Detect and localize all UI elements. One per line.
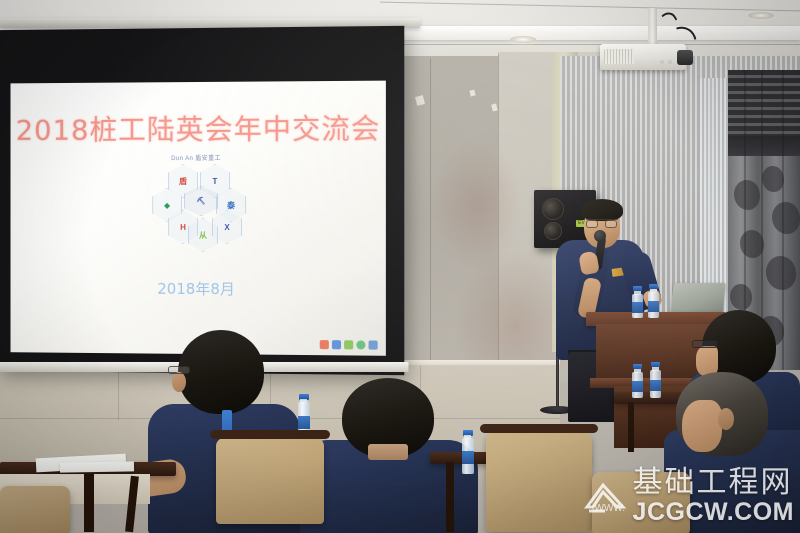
speaker-cone-upper — [542, 198, 564, 220]
audience-front-left-ear — [172, 372, 186, 392]
chair-front-center — [486, 432, 592, 532]
bottle-label — [632, 302, 643, 313]
audience-back-right-glasses — [692, 340, 718, 348]
audience-front-left-head — [178, 330, 264, 414]
projector-vent — [604, 49, 634, 64]
water-bottle — [632, 364, 643, 396]
water-bottle — [648, 284, 659, 318]
slide-title: 2018桩工陆英会年中交流会 — [11, 107, 386, 149]
sponsor-5 — [369, 340, 378, 349]
logo-cluster-label: Dun An 盾安重工 — [171, 153, 221, 162]
curtain-motif — [762, 166, 784, 192]
glasses-right-lens — [605, 220, 617, 228]
bottle-label — [632, 381, 643, 392]
ceiling-downlight — [510, 36, 536, 43]
curtain-motif — [766, 256, 796, 290]
projection-screen-frame: 2018桩工陆英会年中交流会 Dun An 盾安重工 盾 T ◆ 泰 H 从 X… — [0, 26, 404, 375]
chair-front-center-frame — [480, 424, 598, 433]
bottle-label — [648, 301, 659, 312]
water-bottle — [632, 286, 643, 318]
water-bottle — [462, 430, 474, 474]
audience-front-right-hand — [682, 400, 722, 452]
curtain-fold — [782, 70, 784, 370]
wainscot-seam — [118, 366, 119, 420]
curtain-motif — [734, 180, 760, 210]
slide-sponsor-logos — [320, 340, 378, 350]
audience-front-center-neck — [368, 444, 408, 460]
water-bottle — [650, 362, 661, 396]
sponsor-2 — [332, 340, 341, 349]
curtain-stripe-header — [728, 70, 800, 136]
projection-screen-surface: 2018桩工陆英会年中交流会 Dun An 盾安重工 盾 T ◆ 泰 H 从 X… — [11, 81, 386, 356]
slide-date: 2018年8月 — [11, 277, 386, 300]
chair-front-left-frame — [210, 430, 330, 439]
curtain-motif — [772, 202, 800, 234]
bottle-label — [298, 416, 310, 429]
table-leg — [84, 474, 94, 532]
table-leg — [446, 462, 454, 532]
chair-far-left — [0, 486, 70, 533]
presenter-glasses — [586, 219, 618, 227]
conference-photo: 2018桩工陆英会年中交流会 Dun An 盾安重工 盾 T ◆ 泰 H 从 X… — [0, 0, 800, 533]
bottle-label — [650, 380, 661, 391]
slide-logo-cluster: Dun An 盾安重工 盾 T ◆ 泰 H 从 X ⛏ — [144, 156, 248, 242]
sponsor-4 — [356, 340, 365, 349]
sponsor-1 — [320, 340, 329, 349]
curtain-dark-band — [728, 136, 800, 156]
glasses-left-lens — [586, 220, 598, 228]
projector-led — [660, 60, 664, 64]
chair-front-left — [216, 438, 324, 524]
audience-front-right-ear — [718, 408, 734, 430]
wall-panel-seam — [430, 58, 431, 368]
audience-front-left-glasses — [168, 366, 190, 374]
bottle-label — [462, 451, 474, 464]
microphone-head — [594, 230, 606, 242]
presenter-hair — [581, 199, 623, 221]
table-leg — [628, 402, 634, 452]
speaker-cone-lower — [544, 222, 562, 240]
wall-tape-mark — [469, 89, 475, 96]
curtain-motif — [730, 284, 752, 310]
papers — [60, 461, 134, 472]
chair-front-right — [592, 472, 690, 533]
sponsor-3 — [344, 340, 353, 349]
ceiling-downlight — [748, 12, 774, 19]
